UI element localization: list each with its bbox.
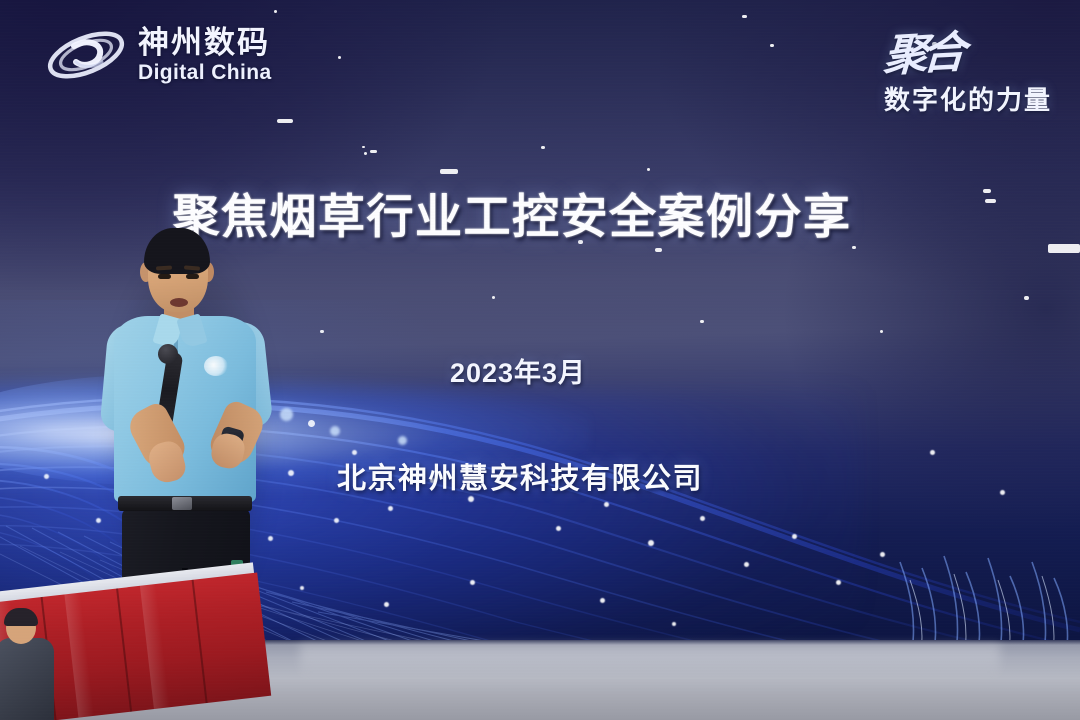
event-logo: 聚合 数字化的力量 (806, 18, 1056, 117)
brand-name-cn: 神州数码 (138, 27, 272, 58)
skirt-highlight (64, 593, 94, 718)
speaker-eye-right (186, 274, 199, 279)
brand-logo-digital-china: 神州数码 Digital China (44, 20, 272, 90)
brand-name-en: Digital China (138, 62, 272, 83)
skirt-highlight (140, 584, 170, 709)
event-subtitle: 数字化的力量 (806, 80, 1056, 117)
screenshot-root: 聚焦烟草行业工控安全案例分享 2023年3月 北京神州慧安科技有限公司 神州数码… (0, 0, 1080, 720)
brand-wordmark: 神州数码 Digital China (138, 27, 272, 83)
speaker-chest-logo (204, 356, 228, 376)
spark-dot (492, 296, 495, 299)
seated-attendee (0, 612, 58, 720)
event-calligraphy-wrap: 聚合 (806, 18, 1056, 80)
spark-dot (274, 10, 277, 13)
seated-attendee-body (0, 638, 54, 720)
spark-dot (364, 152, 367, 155)
spark-dash (277, 119, 293, 123)
skirt-fold (192, 580, 208, 703)
event-calligraphy: 聚合 (882, 16, 962, 84)
spark-dash (370, 150, 377, 153)
spark-dot (362, 146, 365, 148)
spark-dash (440, 169, 458, 174)
spark-dot (770, 44, 774, 47)
spark-dot (655, 248, 662, 252)
spark-dot (742, 15, 747, 18)
speaker-mouth (170, 298, 188, 307)
spark-dot (1024, 296, 1029, 300)
spark-dot (541, 146, 545, 149)
speaker-belt-buckle (172, 497, 192, 510)
spark-dot (647, 168, 650, 171)
spark-dot (338, 56, 341, 59)
speaker-eye-left (158, 274, 171, 279)
spiral-galaxy-icon (44, 20, 128, 90)
seated-attendee-hair (4, 608, 38, 626)
floor-sheen (300, 644, 1000, 678)
skirt-fold (116, 588, 132, 711)
speaker-hair (144, 228, 210, 274)
spark-dot (700, 320, 704, 323)
